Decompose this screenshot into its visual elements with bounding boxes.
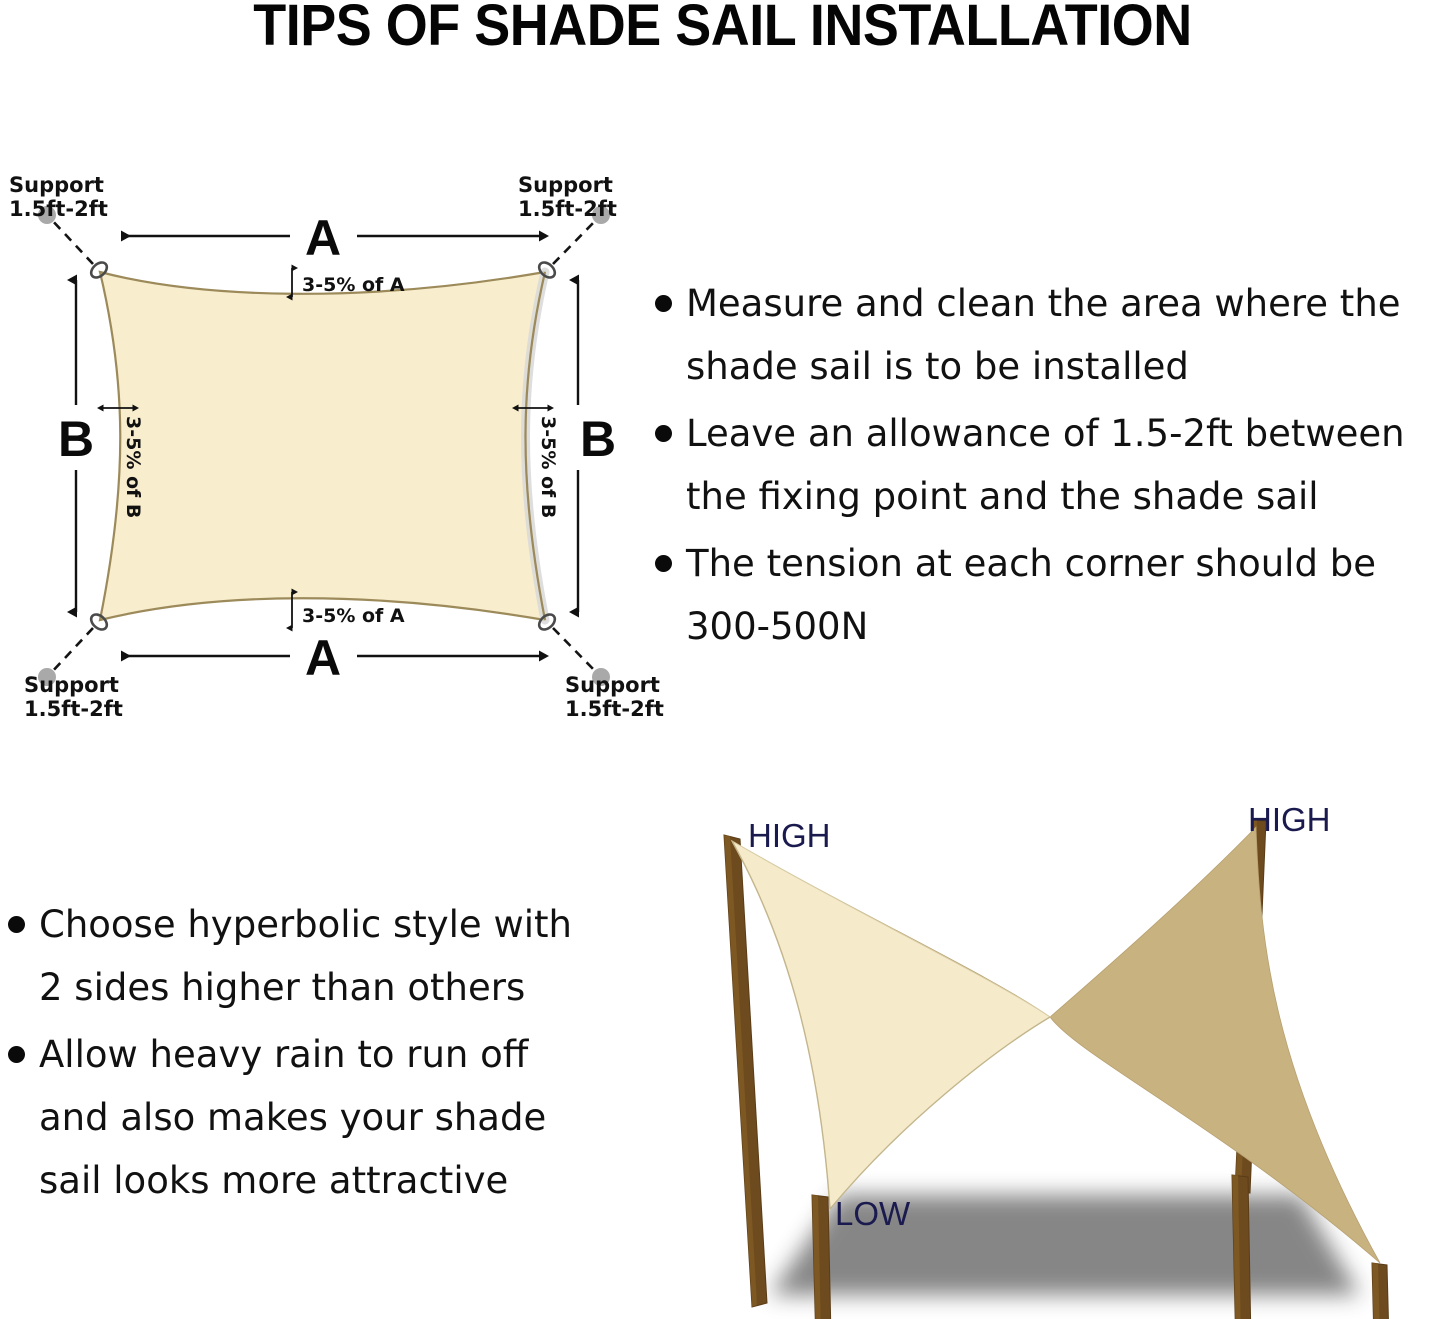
dimension-a-bottom: A (122, 630, 540, 686)
label-high-left: HIGH (748, 817, 831, 854)
list-item: Measure and clean the area where the sha… (655, 272, 1445, 398)
list-item: Leave an allowance of 1.5-2ft between th… (655, 402, 1445, 528)
support-label-top-left-line2: 1.5ft-2ft (9, 197, 108, 221)
support-label-bottom-left-line1: Support (24, 673, 119, 697)
list-item: Choose hyperbolic style with 2 sides hig… (8, 893, 638, 1019)
dimension-label-b-left: B (58, 411, 94, 467)
tip-text: Allow heavy rain to run off and also mak… (39, 1023, 546, 1212)
page-title: TIPS OF SHADE SAIL INSTALLATION (51, 0, 1395, 58)
dimension-label-b-right: B (580, 411, 616, 467)
deflection-label-a-top: 3-5% of A (302, 274, 405, 296)
dimension-b-right: B (578, 280, 616, 612)
support-label-top-left-line1: Support (9, 173, 104, 197)
tips-list-right: Measure and clean the area where the sha… (655, 272, 1445, 662)
bullet-dot-icon (655, 555, 672, 572)
support-label-bottom-right-line2: 1.5ft-2ft (565, 697, 664, 721)
dimension-a-top: A (122, 210, 540, 266)
deflection-label-a-bottom: 3-5% of A (302, 605, 405, 627)
list-item: Allow heavy rain to run off and also mak… (8, 1023, 638, 1212)
tip-text: The tension at each corner should be 300… (686, 532, 1376, 658)
tip-text: Leave an allowance of 1.5-2ft between th… (686, 402, 1405, 528)
support-label-top-right-line1: Support (518, 173, 613, 197)
label-high-right: HIGH (1248, 801, 1331, 838)
rectangular-sail-diagram: Support 1.5ft-2ft Support 1.5ft-2ft Supp… (0, 150, 680, 730)
dimension-b-left: B (58, 280, 94, 612)
hyperbolic-sail-illustration: HIGH HIGH LOW LOW (660, 795, 1445, 1319)
deflection-a-top: 3-5% of A (292, 268, 405, 297)
support-label-bottom-right-line1: Support (565, 673, 660, 697)
deflection-b-left: 3-5% of B (103, 408, 144, 518)
tips-list-left: Choose hyperbolic style with 2 sides hig… (8, 893, 638, 1216)
bullet-dot-icon (8, 1046, 25, 1063)
dimension-label-a-top: A (305, 210, 341, 266)
tip-text: Choose hyperbolic style with 2 sides hig… (39, 893, 572, 1019)
label-low-left: LOW (835, 1195, 911, 1232)
deflection-label-b-left: 3-5% of B (122, 416, 144, 518)
tip-text: Measure and clean the area where the sha… (686, 272, 1401, 398)
sail-fabric (100, 272, 545, 620)
bullet-dot-icon (655, 295, 672, 312)
bullet-dot-icon (655, 425, 672, 442)
bullet-dot-icon (8, 916, 25, 933)
list-item: The tension at each corner should be 300… (655, 532, 1445, 658)
deflection-label-b-right: 3-5% of B (537, 416, 559, 518)
support-label-bottom-left-line2: 1.5ft-2ft (24, 697, 123, 721)
dimension-label-a-bottom: A (305, 630, 341, 686)
support-label-top-right-line2: 1.5ft-2ft (518, 197, 617, 221)
